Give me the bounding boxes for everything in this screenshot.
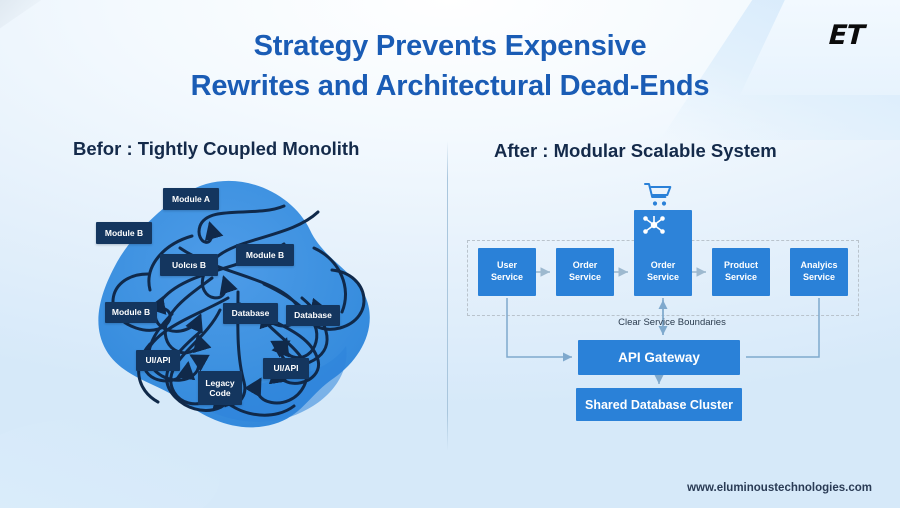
monolith-node-label: Database [232,308,270,318]
service-nodes-icon [640,214,668,236]
monolith-node-label: Legacy Code [203,378,237,398]
monolith-node-label: UI/API [145,355,170,365]
service-name: User [497,260,517,272]
monolith-node-label: Module A [172,194,210,204]
service-name: Analyics [800,260,837,272]
service-suffix: Service [491,272,523,284]
service-suffix: Service [569,272,601,284]
monolith-node: Legacy Code [198,371,242,405]
monolith-node: Module A [163,188,219,210]
monolith-node: UI/API [136,350,180,371]
service-name: Product [724,260,758,272]
service-box-product[interactable]: Product Service [712,248,770,296]
service-name: Order [573,260,598,272]
right-panel-heading: After : Modular Scalable System [494,140,777,162]
api-gateway-box[interactable]: API Gateway [578,340,740,375]
monolith-node-label: Database [294,310,332,320]
page-title-line-2: Rewrites and Architectural Dead-Ends [0,66,900,106]
monolith-node: Module B [236,244,294,266]
monolith-node: Module B [96,222,152,244]
service-boundary-label: Clear Service Boundaries [462,317,882,328]
service-box-order-2[interactable]: Order Service [634,248,692,296]
service-box-analytics[interactable]: Analyics Service [790,248,848,296]
page-title-line-1: Strategy Prevents Expensive [0,26,900,66]
monolith-node: Database [223,303,278,324]
monolith-node-label: Module B [112,307,150,317]
monolith-node: Uolcıs B [160,254,218,276]
service-name: Order [651,260,676,272]
service-suffix: Service [725,272,757,284]
service-box-user[interactable]: User Service [478,248,536,296]
monolith-node: Database [286,305,340,326]
left-panel-heading: Befor : Tightly Coupled Monolith [73,138,359,160]
modular-diagram: User Service Order Service Order Service… [462,180,882,440]
page-title: Strategy Prevents Expensive Rewrites and… [0,26,900,106]
monolith-node-label: Module B [105,228,143,238]
monolith-node-label: Module B [246,250,284,260]
panel-divider [447,141,448,451]
service-suffix: Service [803,272,835,284]
website-url: www.eluminoustechnologies.com [687,482,872,494]
slide-canvas: ET Strategy Prevents Expensive Rewrites … [0,0,900,508]
monolith-diagram: Module A Module B Uolcıs B Module B Modu… [88,178,388,440]
service-suffix: Service [647,272,679,284]
monolith-node: UI/API [263,358,309,379]
monolith-node-label: UI/API [273,363,298,373]
monolith-node: Module B [105,302,157,323]
shared-database-cluster-box[interactable]: Shared Database Cluster [576,388,742,421]
service-box-order-1[interactable]: Order Service [556,248,614,296]
monolith-node-label: Uolcıs B [172,260,206,270]
